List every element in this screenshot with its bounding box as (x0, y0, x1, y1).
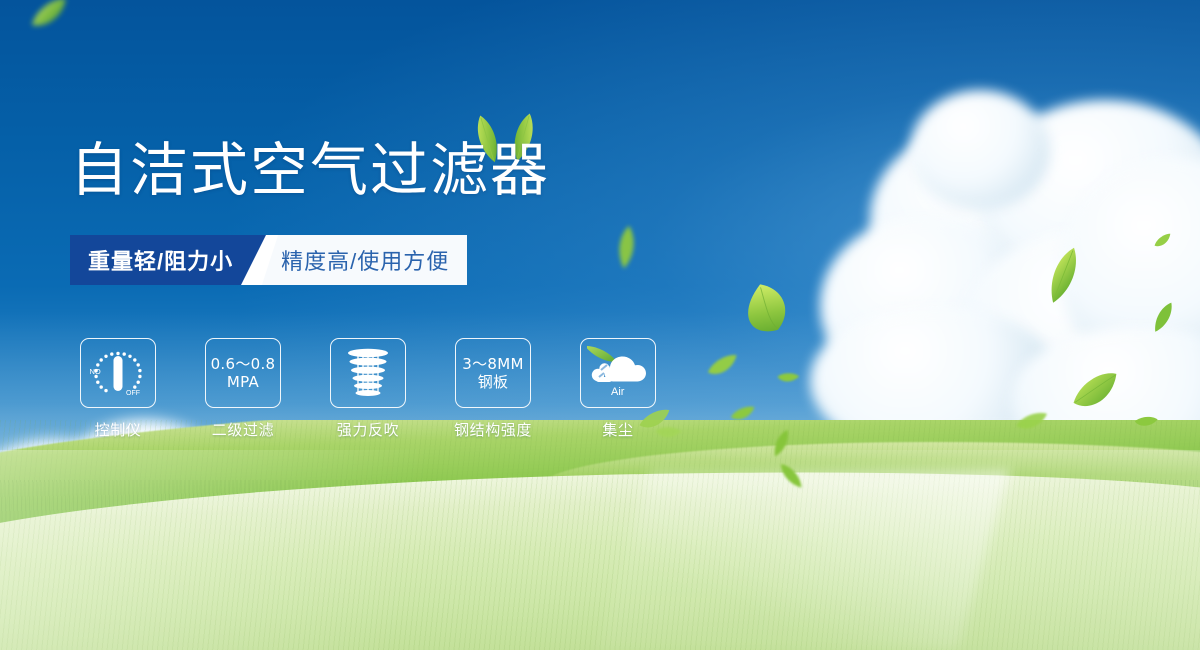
grass-field (0, 420, 1200, 650)
air-cloud-icon-box: Air (580, 338, 656, 408)
pressure-unit: MPA (211, 373, 276, 391)
feature-item-dust-collection[interactable]: Air 集尘 (580, 338, 656, 440)
gauge-switch-icon: NO OFF (87, 345, 149, 401)
feature-item-steel-strength[interactable]: 3～8MM 钢板 钢结构强度 (455, 338, 531, 440)
cumulus-cloud-right (810, 96, 1200, 456)
filter-stack-icon-box (330, 338, 406, 408)
gauge-switch-icon-box: NO OFF (80, 338, 156, 408)
steel-material: 钢板 (462, 373, 523, 391)
feature-item-control-gauge[interactable]: NO OFF 控制仪 (80, 338, 156, 440)
gauge-no-label: NO (90, 367, 101, 376)
page-title: 自洁式空气过滤器 (70, 141, 550, 199)
air-cloud-icon: Air (587, 344, 649, 402)
feature-label: 控制仪 (95, 419, 142, 440)
air-label: Air (611, 386, 625, 398)
pressure-value: 0.6～0.8 (211, 355, 276, 373)
feature-list: NO OFF 控制仪 0.6～0.8 MPA 二级过滤 (80, 338, 656, 440)
subtitle-bar: 重量轻/阻力小 精度高/使用方便 (70, 235, 467, 285)
feature-item-two-stage-filter[interactable]: 0.6～0.8 MPA 二级过滤 (205, 338, 281, 440)
pressure-text-icon-box: 0.6～0.8 MPA (205, 338, 281, 408)
subtitle-right: 精度高/使用方便 (261, 235, 467, 285)
subtitle-left: 重量轻/阻力小 (70, 235, 249, 285)
feature-label: 钢结构强度 (454, 419, 532, 440)
grass-sheen (0, 450, 1200, 650)
feature-item-reverse-blow[interactable]: 强力反吹 (330, 338, 406, 440)
feature-label: 二级过滤 (212, 419, 274, 440)
steel-thickness: 3～8MM (462, 355, 523, 373)
product-banner: 自洁式空气过滤器 重量轻/阻力小 精度高/使用方便 (0, 0, 1200, 650)
feature-label: 集尘 (602, 419, 633, 440)
steel-plate-text-icon: 3～8MM 钢板 (462, 355, 523, 392)
feature-label: 强力反吹 (337, 419, 399, 440)
pressure-text-icon: 0.6～0.8 MPA (211, 355, 276, 392)
gauge-off-label: OFF (126, 390, 140, 397)
filter-stack-icon (344, 346, 392, 400)
steel-plate-text-icon-box: 3～8MM 钢板 (455, 338, 531, 408)
